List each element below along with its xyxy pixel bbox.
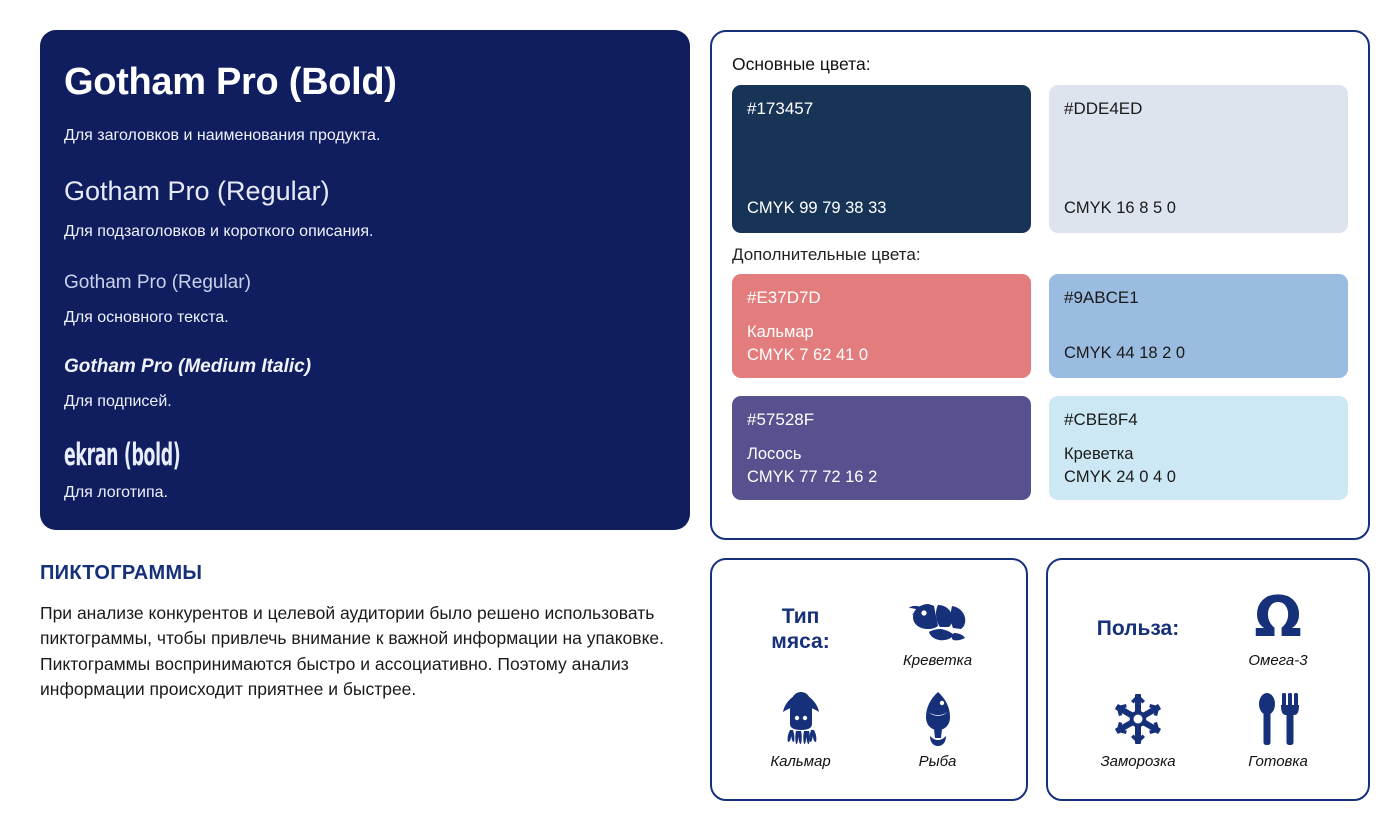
snowflake-icon [1110, 690, 1166, 748]
pictogram-item-shrimp[interactable]: Креветка [903, 589, 972, 669]
swatch-name: Кальмар [747, 322, 1016, 343]
font-sample-medium-italic: Gotham Pro (Medium Italic) [64, 357, 666, 378]
pictograms-paragraph: При анализе конкурентов и целевой аудито… [40, 601, 690, 703]
font-sample-regular-large: Gotham Pro (Regular) [64, 177, 666, 207]
color-swatch[interactable]: #DDE4ED CMYK 16 8 5 0 [1049, 85, 1348, 233]
font-usage-regular-large: Для подзаголовков и короткого описания. [64, 222, 666, 243]
pictogram-item-omega[interactable]: Ω Омега-3 [1248, 589, 1307, 669]
primary-swatch-grid: #173457 CMYK 99 79 38 33 #DDE4ED CMYK 16… [732, 85, 1348, 233]
swatch-hex: #CBE8F4 [1064, 410, 1333, 430]
pictogram-label: Заморозка [1100, 753, 1175, 770]
font-usage-logo: Для логотипа. [64, 483, 666, 504]
pictogram-item-freeze[interactable]: Заморозка [1100, 690, 1175, 770]
pictogram-item-fish[interactable]: Рыба [917, 690, 959, 770]
swatch-spacer [1064, 308, 1333, 343]
font-sample-regular-body: Gotham Pro (Regular) [64, 273, 666, 294]
swatch-cmyk: CMYK 24 0 4 0 [1064, 467, 1333, 488]
primary-colors-label: Основные цвета: [732, 54, 1348, 75]
panel-title-benefit: Польза: [1097, 616, 1179, 641]
swatch-cmyk: CMYK 16 8 5 0 [1064, 198, 1333, 219]
logo-wordmark-sample: ekran (bold) [64, 440, 437, 471]
pictogram-label: Рыба [919, 753, 957, 770]
pictogram-label: Кальмар [770, 753, 830, 770]
swatch-cmyk: CMYK 7 62 41 0 [747, 345, 1016, 366]
color-swatch[interactable]: #9ABCE1 CMYK 44 18 2 0 [1049, 274, 1348, 378]
swatch-cmyk: CMYK 44 18 2 0 [1064, 343, 1333, 364]
swatch-cmyk: CMYK 99 79 38 33 [747, 198, 1016, 219]
panel-title-meat-type: Тип мяса: [771, 604, 829, 654]
pictogram-item-squid[interactable]: Кальмар [770, 690, 830, 770]
pictogram-label: Омега-3 [1248, 652, 1307, 669]
typography-column: Gotham Pro (Bold) Для заголовков и наиме… [40, 30, 690, 703]
color-swatch[interactable]: #CBE8F4 Креветка CMYK 24 0 4 0 [1049, 396, 1348, 500]
secondary-colors-label: Дополнительные цвета: [732, 245, 1348, 265]
swatch-cmyk: CMYK 77 72 16 2 [747, 467, 1016, 488]
swatch-hex: #173457 [747, 99, 1016, 119]
panel-title-line2: мяса: [771, 629, 829, 654]
squid-icon [776, 690, 826, 748]
pictograms-description-block: ПИКТОГРАММЫ При анализе конкурентов и це… [40, 562, 690, 703]
color-swatch[interactable]: #E37D7D Кальмар CMYK 7 62 41 0 [732, 274, 1031, 378]
font-usage-medium-italic: Для подписей. [64, 392, 666, 413]
pictogram-label: Креветка [903, 652, 972, 669]
omega-icon: Ω [1254, 589, 1302, 647]
pictogram-label: Готовка [1248, 753, 1308, 770]
secondary-swatch-grid: #E37D7D Кальмар CMYK 7 62 41 0 #9ABCE1 C… [732, 274, 1348, 500]
swatch-name: Лосось [747, 444, 1016, 465]
panel-title-line1: Тип [771, 604, 829, 629]
font-usage-bold: Для заголовков и наименования продукта. [64, 126, 666, 147]
pictogram-item-cooking[interactable]: Готовка [1248, 690, 1308, 770]
omega-glyph: Ω [1254, 592, 1302, 644]
pictogram-panel-meat-type: Тип мяса: Креветка [710, 558, 1028, 801]
typography-card: Gotham Pro (Bold) Для заголовков и наиме… [40, 30, 690, 530]
pictogram-grid: Польза: Ω Омега-3 [1068, 578, 1348, 781]
fish-icon [917, 690, 959, 748]
pictograms-heading: ПИКТОГРАММЫ [40, 562, 690, 585]
swatch-hex: #9ABCE1 [1064, 288, 1333, 308]
color-palette-card: Основные цвета: #173457 CMYK 99 79 38 33… [710, 30, 1370, 540]
swatch-hex: #E37D7D [747, 288, 1016, 308]
pictogram-grid: Тип мяса: Креветка [732, 578, 1006, 781]
pictogram-panel-benefit: Польза: Ω Омега-3 [1046, 558, 1370, 801]
shrimp-icon [907, 589, 969, 647]
font-sample-bold: Gotham Pro (Bold) [64, 62, 666, 104]
color-swatch[interactable]: #173457 CMYK 99 79 38 33 [732, 85, 1031, 233]
utensils-icon [1255, 690, 1301, 748]
swatch-hex: #57528F [747, 410, 1016, 430]
color-swatch[interactable]: #57528F Лосось CMYK 77 72 16 2 [732, 396, 1031, 500]
swatch-hex: #DDE4ED [1064, 99, 1333, 119]
swatch-name: Креветка [1064, 444, 1333, 465]
font-usage-regular-body: Для основного текста. [64, 308, 666, 329]
